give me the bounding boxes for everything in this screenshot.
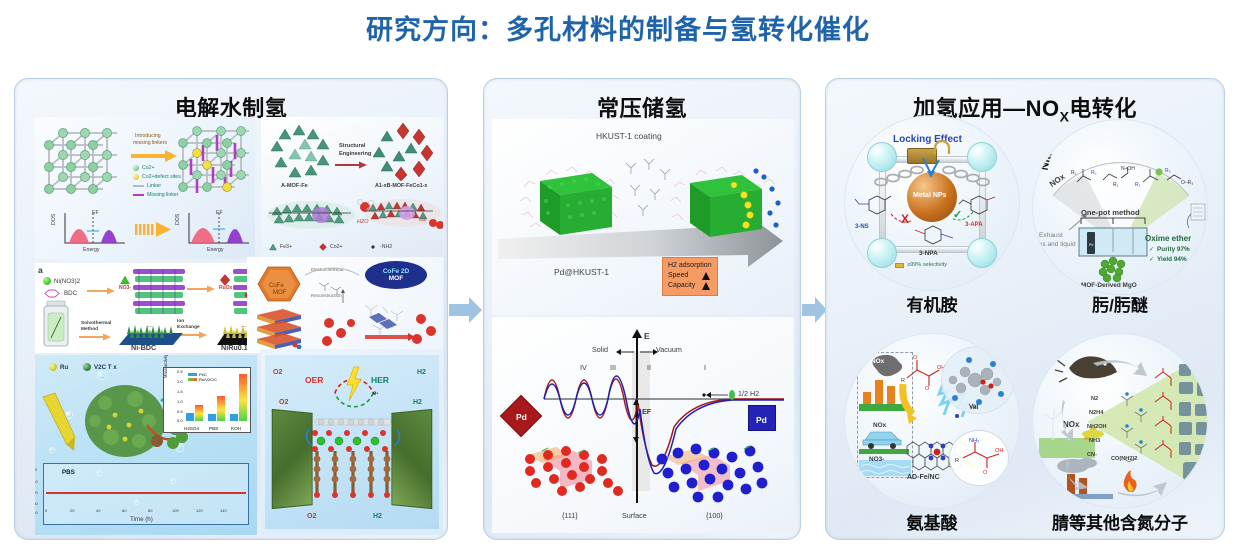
green-dot-icon	[43, 277, 51, 285]
figure-tag-a: a	[38, 265, 43, 275]
category-label-amino-acid: 氨基酸	[844, 509, 1020, 534]
legend-label-2: Linker	[147, 183, 161, 189]
stability-xtick: 20	[70, 508, 74, 513]
metric-yield: ✓ Yield 94%	[1149, 256, 1187, 263]
panel-electrolytic-hydrogen[interactable]: 电解水制氢	[14, 78, 448, 540]
stability-xtick: 120	[196, 508, 203, 513]
callout-line-2: Speed	[668, 271, 688, 281]
label-oer: OER	[305, 375, 323, 385]
figure-cofe-2d-mof: CoFe MOF Electrochemical Reconstruction …	[247, 257, 443, 353]
up-arrow-icon	[702, 272, 710, 280]
check-icon: ✓	[1149, 246, 1154, 253]
bubble-decor	[134, 500, 139, 505]
yellow-dot-icon	[49, 363, 57, 371]
stability-plot: PBS j (mA cm-2) Time (h) 0 -10 -20 -30 -…	[43, 463, 249, 525]
svg-text:O–R₃: O–R₃	[1181, 180, 1193, 186]
svg-text:R₃: R₃	[1165, 168, 1171, 174]
label-h2-top-right: H2	[417, 369, 426, 376]
nitrate-icon	[119, 275, 131, 287]
label-metal-nps: Metal NPs	[913, 192, 946, 199]
bar-ptc-koh	[230, 414, 238, 421]
dos-fermi-right: EF	[216, 210, 223, 216]
label-o2-mid-left: O2	[279, 399, 288, 406]
legend-label-1: Co2+defect sites	[142, 174, 181, 180]
figure-structural-engineering: A-MOF-Fe Structural Engineering A1-xB-MO…	[261, 117, 443, 259]
svg-text:R₁: R₁	[1071, 170, 1077, 176]
stability-ytick: 0	[35, 467, 37, 472]
dos-ylabel-left: DOS	[51, 214, 57, 225]
label-selectivity: ≥99% selectivity	[907, 262, 947, 268]
cage-sphere	[967, 238, 997, 268]
bubble-decor	[96, 470, 102, 476]
badge-line2: MOF	[389, 275, 403, 282]
svg-text:MOF: MOF	[273, 290, 287, 296]
figure-ru-v2c-activity: Ru V2C T x	[35, 355, 257, 535]
up-arrow-icon	[702, 282, 710, 290]
legend-label-co: Co2+	[330, 244, 343, 250]
stability-xtick: 80	[148, 508, 152, 513]
yellow-swatch-icon	[895, 263, 904, 268]
bar-chart-plot-area	[184, 371, 247, 421]
label-structural-line2: Engineering	[339, 151, 371, 157]
stability-xtick: 140	[220, 508, 227, 513]
panel-3-heading-post: 电转化	[1069, 96, 1137, 121]
bar-ruv2c-koh	[239, 374, 247, 421]
legend-v2c: V2C T x	[83, 363, 117, 371]
legend-label-v2c: V2C T x	[94, 364, 117, 371]
label-pd-right: Pd	[756, 415, 767, 425]
legend-label-3: Missing linker	[147, 192, 178, 198]
label-electron: e-	[373, 391, 378, 397]
label-solid: Solid	[592, 345, 608, 354]
stability-ytick: -40	[35, 510, 38, 515]
figure-hkust-coating: HKUST-1 coating	[492, 119, 794, 315]
callout-h2-adsorption: H2 adsorption Speed Capacity	[662, 257, 718, 296]
label-introducing-missing-linkers-line2: missing linkers	[133, 140, 167, 146]
callout-line-3: Capacity	[668, 281, 695, 291]
metric-purity: ✓ Purity 97%	[1149, 246, 1190, 253]
bdc-molecule-icon	[43, 289, 61, 298]
legend-label-nh2: -NH2	[380, 244, 392, 250]
figure-oer-her-device: OER HER e-	[261, 349, 443, 535]
grey-line-icon	[133, 185, 144, 188]
svg-text:O: O	[913, 355, 917, 361]
label-fermi-level: EF	[642, 407, 651, 416]
svg-text:NH₂: NH₂	[969, 438, 979, 444]
svg-text:R: R	[955, 458, 959, 464]
label-purity: Purity 97%	[1157, 246, 1190, 253]
precursor-1-label: Ni(NO3)2	[54, 278, 80, 285]
bar-chart-ytick: 1.0	[177, 399, 183, 404]
label-facet-100: {100}	[706, 511, 723, 520]
figure-nitrogen-oxides-valorization: Nitrogen Oxides Valorization NOx R₂ R₁ N…	[1032, 119, 1208, 295]
stability-ytick: -10	[35, 479, 38, 484]
label-nox-2: NOx	[873, 422, 886, 429]
bar-chart-ytick: 2.0	[177, 379, 183, 384]
dos-ylabel-right: DOS	[175, 214, 181, 225]
legend-missing-linker: Missing linker	[133, 192, 178, 198]
category-label-oxime: 肟/肟醚	[1032, 291, 1208, 316]
panel-hydrogen-storage[interactable]: 常压储氢 HKUST-1 coating	[483, 78, 801, 540]
figure-amino-acid-synthesis: NOx NOx NO3- O O OH R	[844, 333, 1020, 509]
green-polyhedron-icon	[269, 243, 277, 251]
bar-chart-xtick: KOH	[231, 426, 241, 431]
label-solvothermal-line2: Method	[81, 327, 98, 332]
legend-linker: Linker	[133, 183, 161, 189]
stability-xtick: 100	[172, 508, 179, 513]
bar-chart-xtick: PBS	[209, 426, 218, 431]
label-structural-line1: Structural	[339, 143, 365, 149]
label-ab-mof-feco: A1-xB-MOF-FeCo1-x	[375, 183, 427, 189]
check-icon: ✓	[1149, 256, 1154, 263]
stability-annotation: PBS	[62, 469, 75, 476]
bar-chart-ylabel: Mass activity (A mg-1)	[163, 355, 168, 378]
legend-co2plus-defect: Co2+defect sites	[133, 174, 181, 180]
label-half-h2: 1/2 H2	[738, 389, 759, 398]
figure-ion-exchange-synthesis: a Ni(NO3)2 BDC Solvothermal Method	[35, 263, 271, 353]
label-energy-axis: E	[644, 331, 650, 341]
svg-text:O: O	[983, 470, 988, 476]
green-dot-icon	[133, 165, 139, 171]
legend-co2plus: Co2+	[133, 165, 155, 171]
legend-label-ru: Ru	[60, 364, 68, 371]
label-vacuum: Vacuum	[656, 345, 682, 354]
stability-ytick: -20	[35, 490, 38, 495]
label-mof-derived-mgo: MOF-Derived MgO	[1081, 282, 1137, 289]
panel-2-heading: 常压储氢	[484, 79, 800, 123]
label-nox-1: NOx	[871, 358, 884, 365]
svg-text:N–OH: N–OH	[1121, 166, 1135, 172]
bar-chart-ytick: 2.5	[177, 369, 183, 374]
label-ni-bdc: Ni-BDC	[131, 343, 156, 352]
stability-xtick: 0	[45, 508, 47, 513]
panel-3-heading: 加氢应用—NOX电转化	[826, 79, 1224, 124]
label-o2-top-left: O2	[273, 369, 282, 376]
bar-ptc-pbs	[208, 414, 216, 421]
label-pd-hkust: Pd@HKUST-1	[554, 267, 609, 277]
stability-curve	[46, 492, 246, 494]
label-h2-bottom: H2	[373, 513, 382, 520]
label-her: HER	[371, 375, 389, 385]
dark-green-dot-icon	[83, 363, 91, 371]
legend-nh2: -NH2	[369, 243, 392, 251]
red-polyhedron-icon	[319, 243, 327, 251]
cage-sphere	[867, 238, 897, 268]
label-o2-bottom: O2	[307, 513, 316, 520]
dos-xlabel-left: Energy	[83, 247, 99, 253]
footer-selectivity: ≥99% selectivity	[895, 262, 947, 268]
ruox-icon	[219, 274, 231, 286]
page-title: 研究方向：多孔材料的制备与氢转化催化	[0, 8, 1236, 47]
legend-ru: Ru	[49, 363, 68, 371]
svg-text:Pd: Pd	[1089, 243, 1093, 247]
legend-co2plus-b: Co2+	[319, 243, 343, 251]
bubble-decor	[170, 478, 176, 484]
label-pd-left: Pd	[516, 412, 527, 422]
svg-text:OH: OH	[995, 448, 1003, 454]
svg-text:R₁: R₁	[1113, 182, 1119, 188]
dos-xlabel-right: Energy	[207, 247, 223, 253]
label-introducing-missing-linkers-line1: Introducing	[135, 133, 161, 139]
precursor-nickel-nitrate: Ni(NO3)2	[43, 277, 80, 285]
bar-ptc-h2so4	[186, 413, 194, 421]
callout-line-1: H2 adsorption	[668, 261, 712, 271]
label-val: Val	[969, 404, 978, 411]
legend-label-0: Co2+	[142, 165, 155, 171]
legend-fe3plus: Fe3+	[269, 243, 292, 251]
bar-chart-ytick: 1.5	[177, 389, 183, 394]
svg-text:R₂: R₂	[1135, 182, 1141, 188]
small-dot-icon	[369, 243, 377, 251]
badge-line1: CoFe 2D	[383, 268, 409, 275]
label-hkust-coating: HKUST-1 coating	[596, 131, 662, 141]
bar-ruv2c-h2so4	[195, 405, 203, 421]
category-label-nitriles: 腈等其他含氮分子	[1022, 509, 1218, 534]
stability-ytick: -30	[35, 501, 38, 506]
figure-nitrogen-cycle: NOx N2 N2H4 NH2OH NH3 CN- CO(NH2)2	[1032, 333, 1208, 509]
label-3-npa: 3-NPA	[919, 250, 938, 257]
label-exhaust-line1: Exhaust	[1039, 232, 1063, 239]
bar-ruv2c-pbs	[217, 396, 225, 421]
label-h2-mid-right: H2	[413, 399, 422, 406]
label-a-mof-fe: A-MOF-Fe	[281, 183, 308, 189]
label-facet-111: {111}	[562, 511, 578, 520]
stability-xtick: 60	[122, 508, 126, 513]
svg-text:R₂: R₂	[1091, 170, 1097, 176]
legend-label-fe: Fe3+	[280, 244, 292, 250]
precursor-2-label: BDC	[64, 290, 77, 297]
label-exhaust-line2: gas and liquid	[1035, 241, 1076, 248]
arrow-panel1-to-panel2	[449, 296, 483, 324]
panel-nox-electroconversion[interactable]: 加氢应用—NOX电转化 Locking Effect Metal NPs	[825, 78, 1225, 540]
bar-chart-ytick: 0.0	[177, 418, 183, 423]
label-yield: Yield 94%	[1157, 256, 1187, 263]
label-surface: Surface	[622, 511, 647, 520]
yellow-dot-icon	[133, 174, 139, 180]
precursor-bdc: BDC	[43, 289, 77, 298]
dos-fermi-left: EF	[92, 210, 99, 216]
bubble-decor	[97, 371, 106, 380]
badge-cofe-2d-mof: CoFe 2D MOF	[365, 261, 427, 289]
figure-band-diagram: E Solid Vacuum IV III II I	[492, 317, 794, 533]
category-label-organic-amine: 有机胺	[844, 291, 1020, 316]
label-no3: NO3-	[869, 456, 884, 463]
bar-chart-ytick: 0.5	[177, 409, 183, 414]
bar-chart-xtick: H2SO4	[184, 426, 199, 431]
svg-text:CoFe: CoFe	[269, 283, 284, 289]
stability-xtick: 40	[96, 508, 100, 513]
magenta-line-icon	[133, 194, 144, 197]
label-3-ns: 3-NS	[855, 224, 869, 230]
label-o2: O2	[419, 217, 426, 223]
label-ad-fe-nc: AD-Fe/NC	[907, 474, 940, 481]
label-solvothermal-line1: Solvothermal	[81, 321, 111, 326]
bar-chart-mass-activity: Mass activity (A mg-1) 2.5 2.0 1.5 1.0 0…	[163, 367, 251, 433]
stability-xlabel: Time (h)	[130, 516, 153, 523]
figure-locking-effect: Locking Effect Metal NPs	[844, 115, 1020, 291]
figure-defect-mof: Introducing missing linkers Co2+ Co2+def…	[35, 117, 255, 259]
